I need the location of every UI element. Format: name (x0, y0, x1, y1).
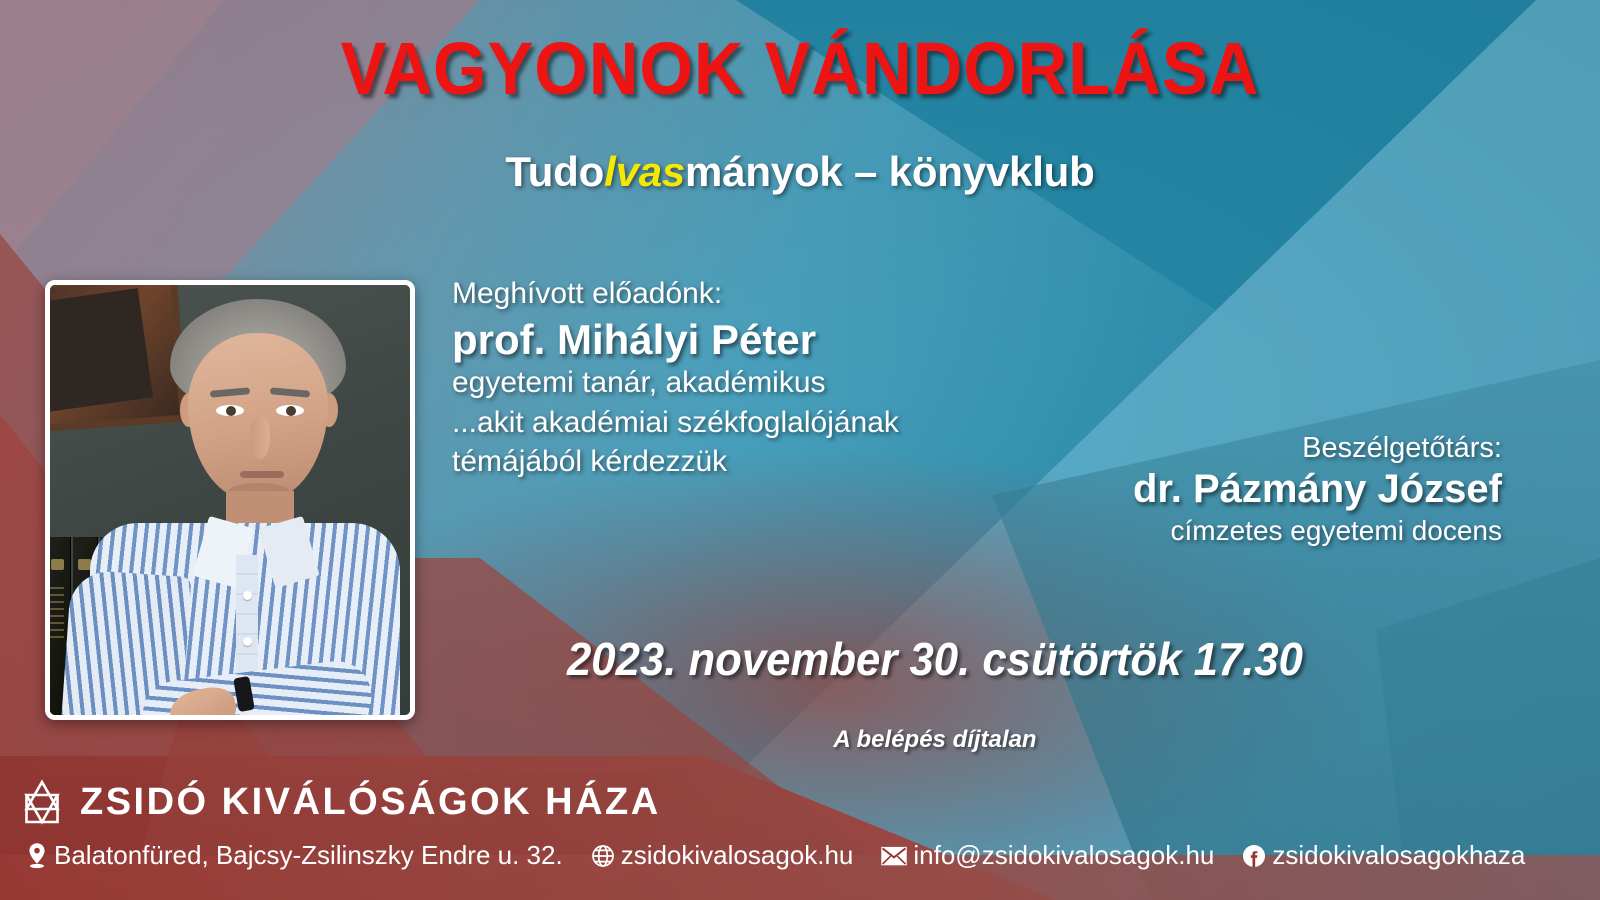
moderator-info: Beszélgetőtárs: dr. Pázmány József címze… (962, 432, 1502, 548)
envelope-icon (881, 846, 907, 866)
portrait-mouth (240, 471, 284, 478)
portrait-nose (250, 417, 270, 459)
portrait-picture-frame-inner (45, 288, 153, 412)
contact-row: Balatonfüred, Bajcsy-Zsilinszky Endre u.… (26, 840, 1525, 871)
globe-icon (591, 844, 615, 868)
contact-email-text: info@zsidokivalosagok.hu (913, 840, 1214, 871)
moderator-lead-label: Beszélgetőtárs: (962, 432, 1502, 465)
contact-email[interactable]: info@zsidokivalosagok.hu (881, 840, 1214, 871)
facebook-icon (1242, 844, 1266, 868)
portrait-illustration (50, 285, 410, 715)
organization-row: ZSIDÓ KIVÁLÓSÁGOK HÁZA (22, 779, 661, 825)
location-pin-icon (26, 842, 48, 869)
portrait-picture-frame (45, 280, 187, 432)
portrait-shirt-button (243, 637, 252, 646)
subtitle-post: mányok – könyvklub (685, 148, 1095, 195)
page-title: VAGYONOK VÁNDORLÁSA (56, 26, 1544, 111)
portrait-shirt-button (243, 591, 252, 600)
contact-address: Balatonfüred, Bajcsy-Zsilinszky Endre u.… (26, 840, 563, 871)
portrait-pupil-left (226, 406, 236, 416)
contact-facebook[interactable]: zsidokivalosagokhaza (1242, 840, 1525, 871)
speaker-role: egyetemi tanár, akadémikus (452, 364, 1052, 402)
speaker-lead-label: Meghívott előadónk: (452, 276, 1052, 313)
moderator-name: dr. Pázmány József (962, 465, 1502, 513)
speaker-name: prof. Mihályi Péter (452, 315, 1052, 365)
admission-note: A belépés díjtalan (430, 726, 1440, 754)
portrait-pupil-right (286, 406, 296, 416)
organization-name: ZSIDÓ KIVÁLÓSÁGOK HÁZA (80, 781, 661, 824)
contact-website[interactable]: zsidokivalosagok.hu (591, 840, 854, 871)
speaker-portrait (45, 280, 415, 720)
moderator-role: címzetes egyetemi docens (962, 513, 1502, 548)
subtitle-pre: Tudo (505, 148, 604, 195)
contact-facebook-text: zsidokivalosagokhaza (1272, 840, 1525, 871)
subtitle: Tudolvasmányok – könyvklub (0, 148, 1600, 196)
subtitle-highlight: lvas (604, 148, 685, 195)
event-poster: VAGYONOK VÁNDORLÁSA Tudolvasmányok – kön… (0, 0, 1600, 900)
contact-website-text: zsidokivalosagok.hu (621, 840, 854, 871)
contact-address-text: Balatonfüred, Bajcsy-Zsilinszky Endre u.… (54, 840, 563, 871)
event-datetime: 2023. november 30. csütörtök 17.30 (455, 632, 1415, 686)
star-of-david-house-icon (22, 779, 62, 825)
